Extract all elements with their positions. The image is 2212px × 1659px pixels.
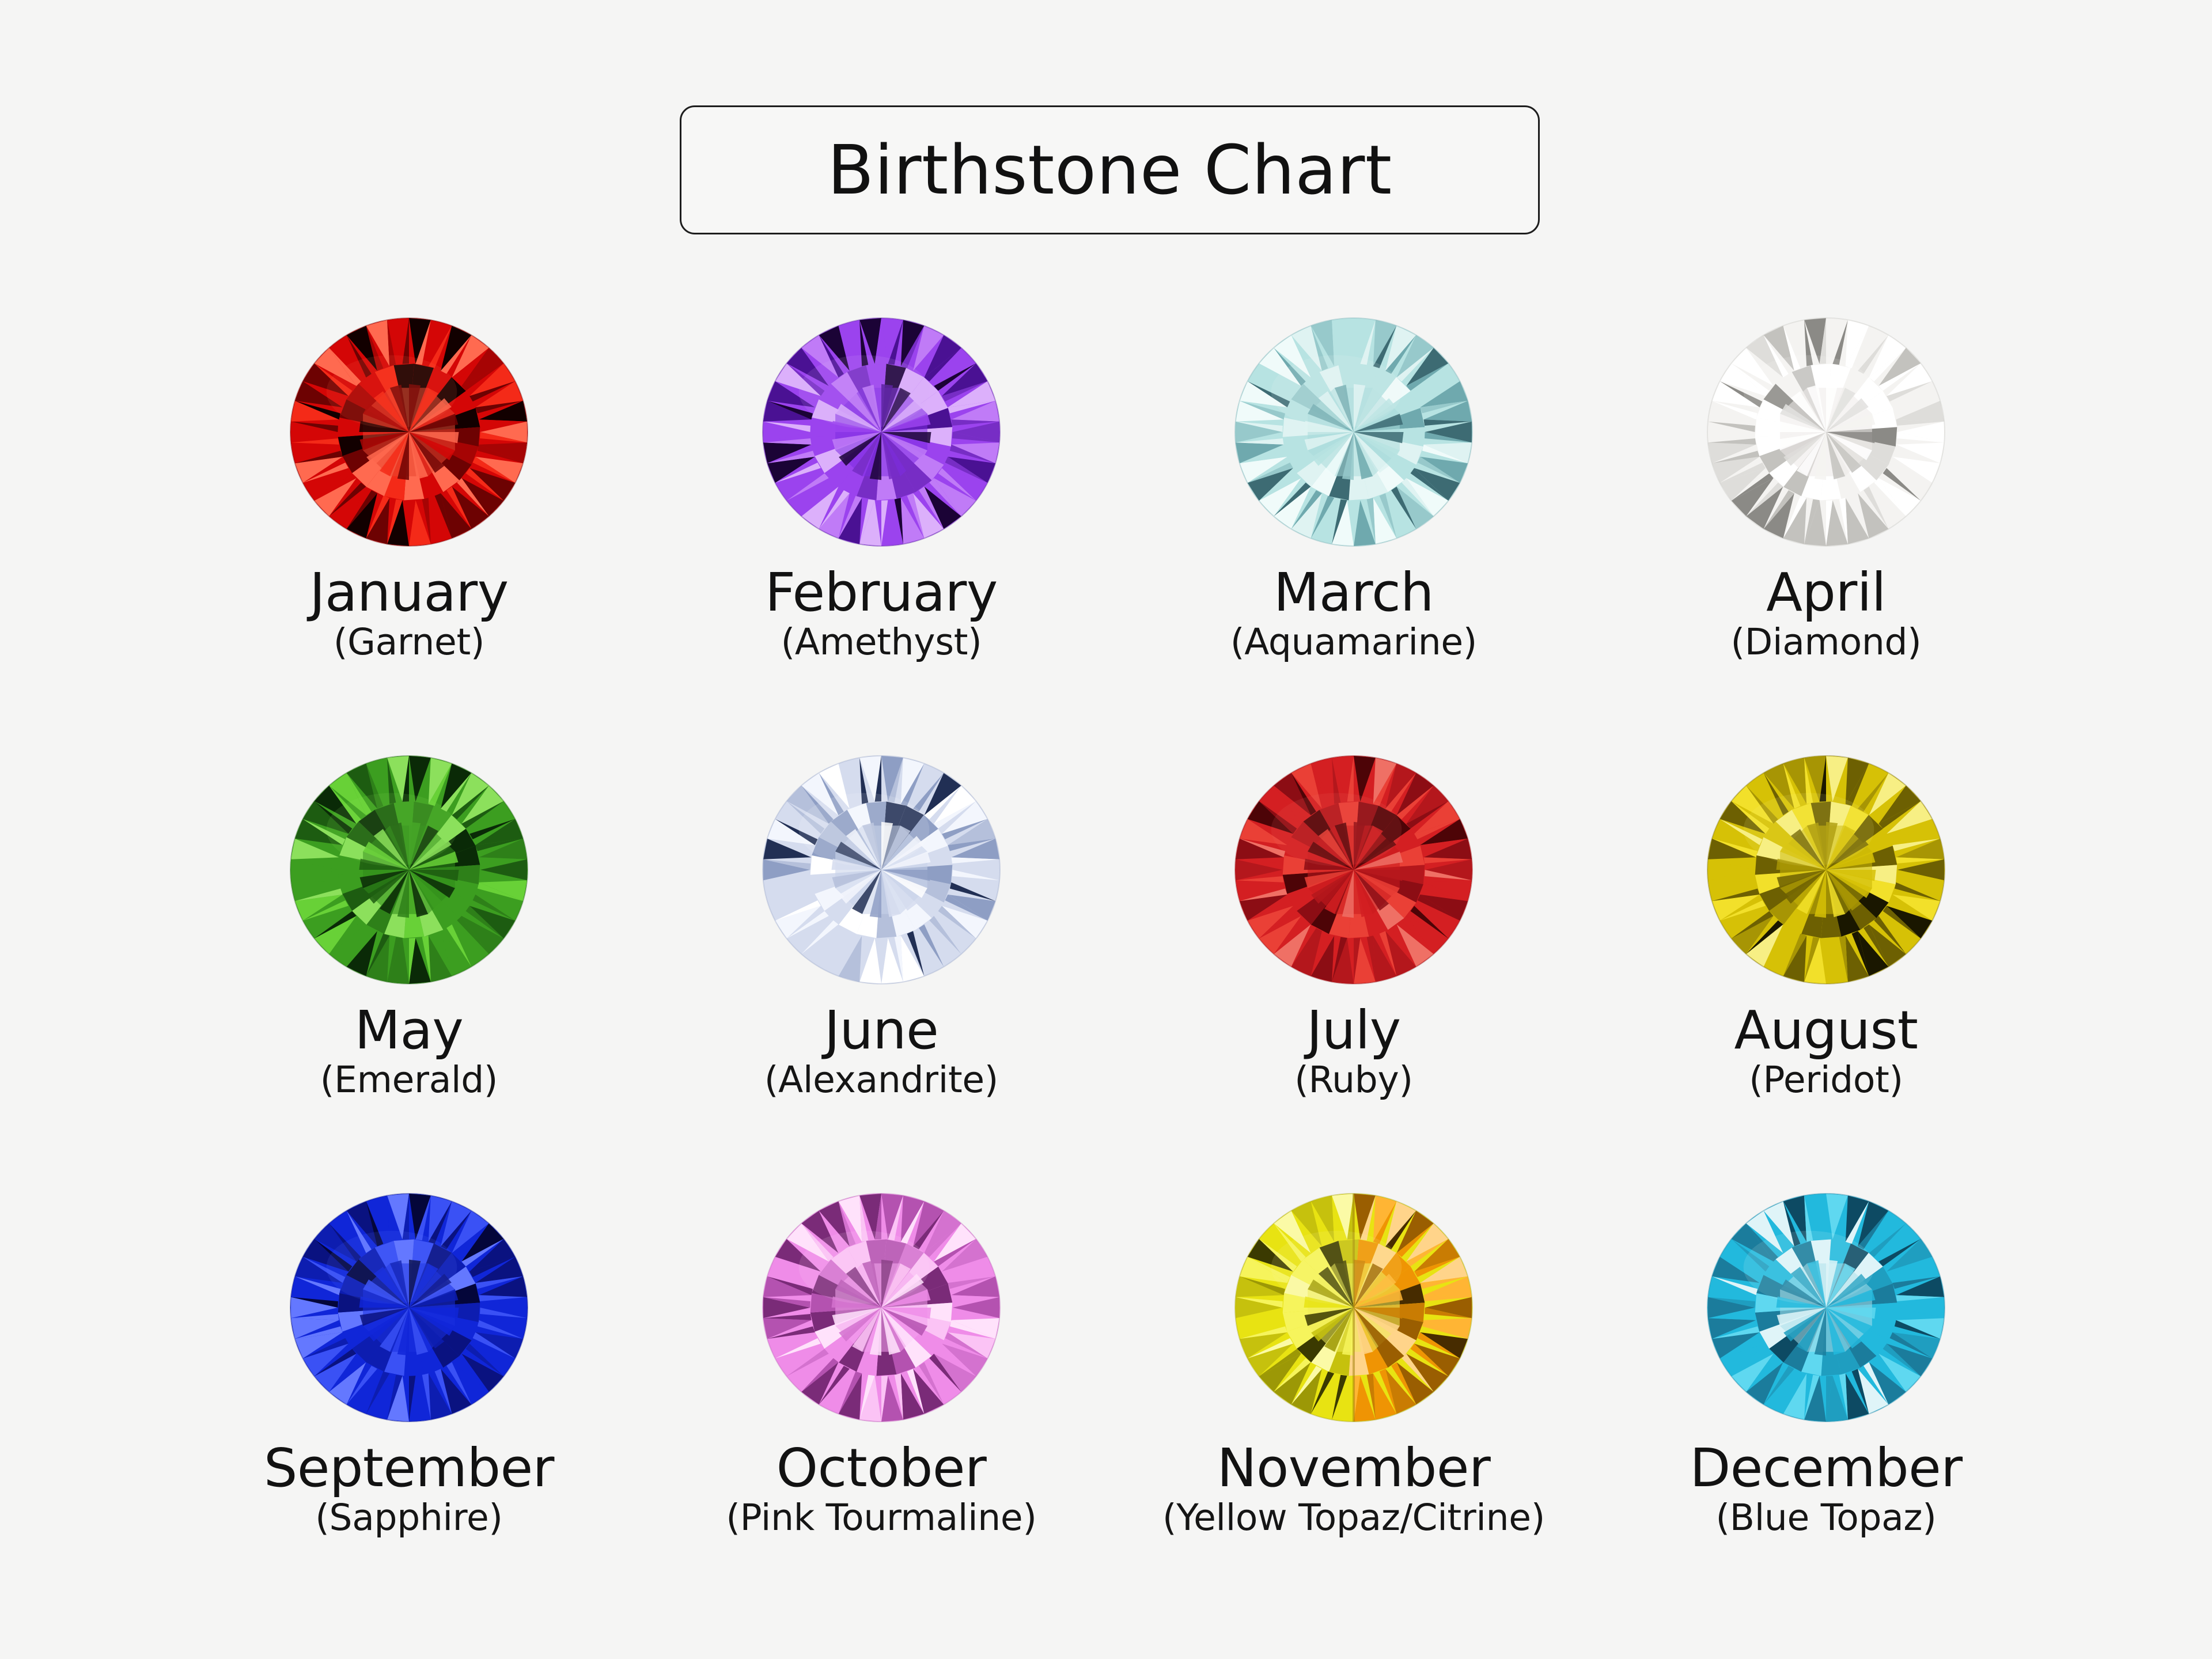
- month-label: January: [309, 566, 508, 620]
- stone-label: (Garnet): [334, 623, 484, 661]
- month-label: July: [1306, 1003, 1400, 1058]
- round-brilliant-gem-icon: [288, 749, 530, 991]
- birthstone-cell: December(Blue Topaz): [1590, 1187, 2062, 1624]
- stone-label: (Sapphire): [315, 1499, 502, 1537]
- stone-label: (Alexandrite): [764, 1061, 998, 1099]
- stone-label: (Amethyst): [781, 623, 982, 661]
- birthstone-cell: September(Sapphire): [173, 1187, 645, 1624]
- birthstone-cell: November(Yellow Topaz/Citrine): [1118, 1187, 1590, 1624]
- birthstone-grid: January(Garnet)February(Amethyst)March(A…: [173, 311, 2062, 1647]
- month-label: April: [1766, 566, 1886, 620]
- round-brilliant-gem-icon: [1233, 749, 1475, 991]
- month-label: December: [1690, 1441, 1962, 1495]
- round-brilliant-gem-icon: [1705, 749, 1947, 991]
- page-title: Birthstone Chart: [827, 136, 1392, 204]
- month-label: June: [824, 1003, 938, 1058]
- birthstone-cell: October(Pink Tourmaline): [645, 1187, 1118, 1624]
- stone-label: (Blue Topaz): [1716, 1499, 1937, 1537]
- month-label: October: [777, 1441, 987, 1495]
- birthstone-cell: April(Diamond): [1590, 311, 2062, 749]
- round-brilliant-gem-icon: [288, 311, 530, 553]
- stone-label: (Ruby): [1294, 1061, 1413, 1099]
- round-brilliant-gem-icon: [760, 311, 1002, 553]
- birthstone-cell: January(Garnet): [173, 311, 645, 749]
- month-label: March: [1274, 566, 1434, 620]
- round-brilliant-gem-icon: [760, 749, 1002, 991]
- month-label: May: [355, 1003, 464, 1058]
- month-label: September: [264, 1441, 554, 1495]
- round-brilliant-gem-icon: [288, 1187, 530, 1429]
- round-brilliant-gem-icon-split: [1233, 1187, 1475, 1429]
- stone-label: (Diamond): [1731, 623, 1922, 661]
- month-label: August: [1734, 1003, 1918, 1058]
- birthstone-cell: February(Amethyst): [645, 311, 1118, 749]
- birthstone-cell: July(Ruby): [1118, 749, 1590, 1187]
- birthstone-cell: June(Alexandrite): [645, 749, 1118, 1187]
- stone-label: (Pink Tourmaline): [726, 1499, 1036, 1537]
- round-brilliant-gem-icon: [1233, 311, 1475, 553]
- birthstone-cell: March(Aquamarine): [1118, 311, 1590, 749]
- round-brilliant-gem-icon: [1705, 311, 1947, 553]
- round-brilliant-gem-icon: [1705, 1187, 1947, 1429]
- stone-label: (Emerald): [320, 1061, 498, 1099]
- stone-label: (Yellow Topaz/Citrine): [1162, 1499, 1545, 1537]
- round-brilliant-gem-icon: [760, 1187, 1002, 1429]
- stone-label: (Aquamarine): [1230, 623, 1477, 661]
- birthstone-cell: August(Peridot): [1590, 749, 2062, 1187]
- stone-label: (Peridot): [1749, 1061, 1903, 1099]
- birthstone-cell: May(Emerald): [173, 749, 645, 1187]
- month-label: November: [1217, 1441, 1491, 1495]
- page-title-box: Birthstone Chart: [680, 105, 1540, 234]
- month-label: February: [765, 566, 998, 620]
